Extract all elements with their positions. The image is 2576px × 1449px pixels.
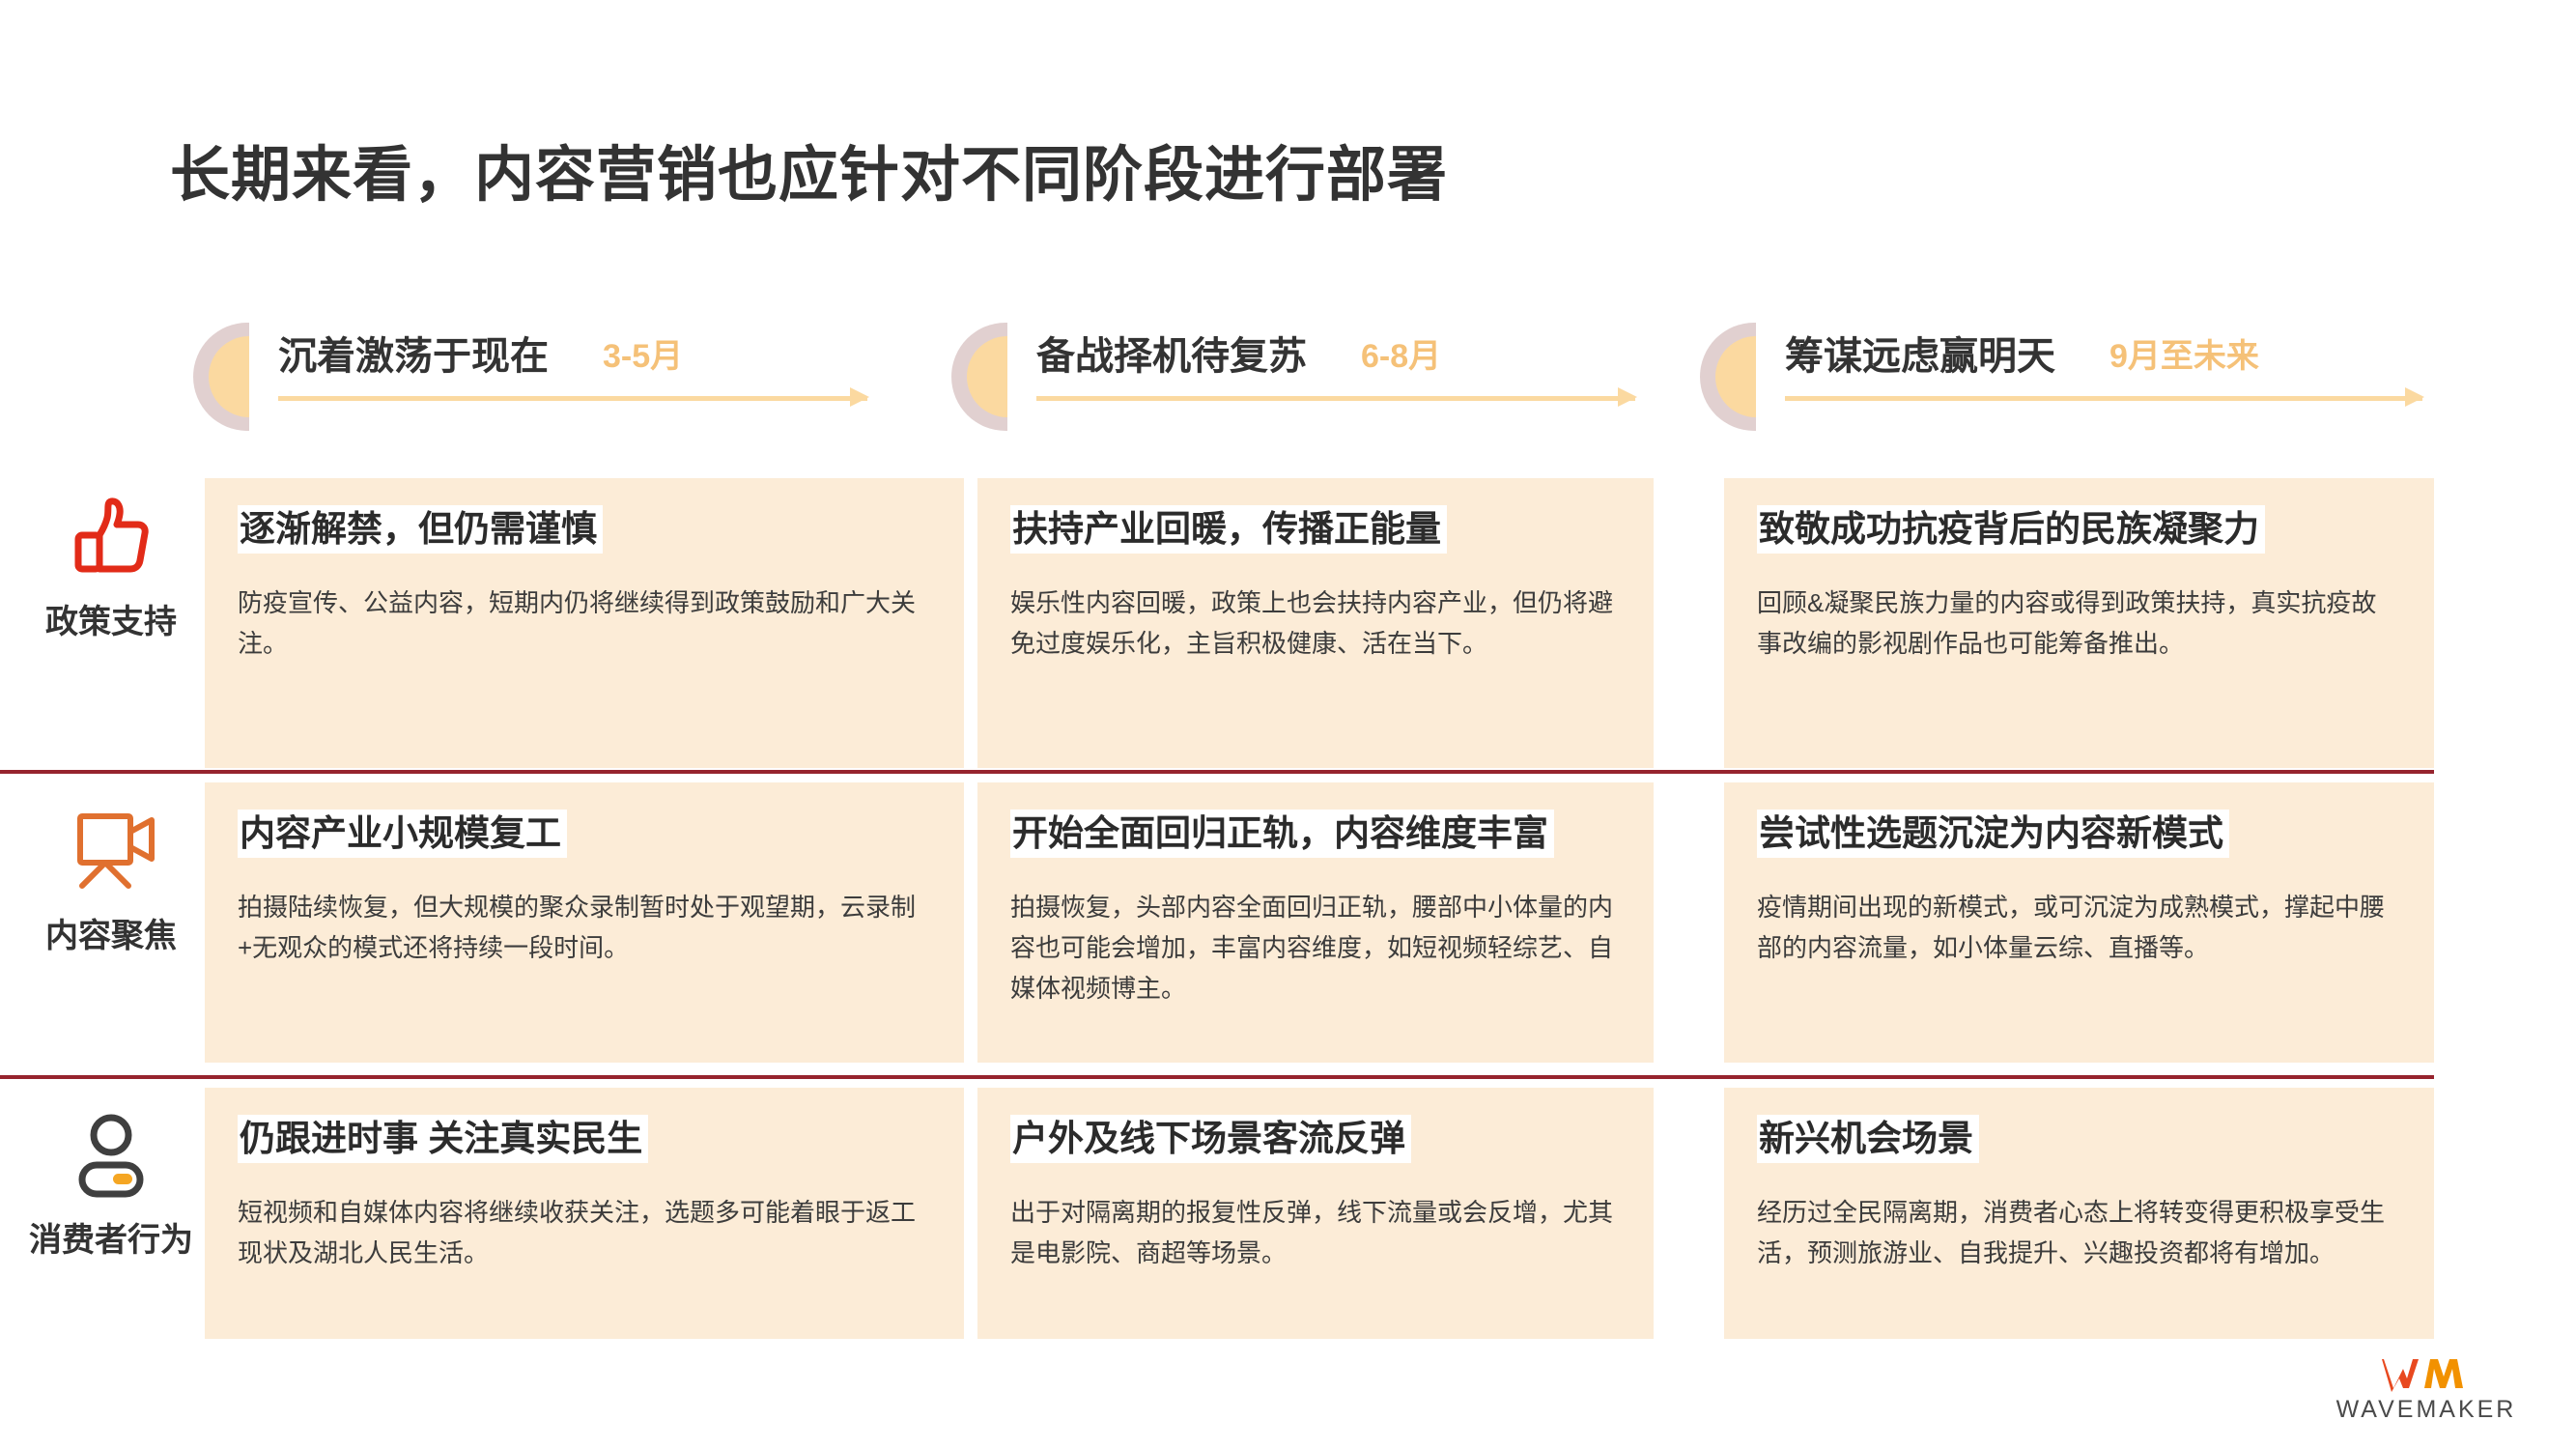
slide-root: 长期来看，内容营销也应针对不同阶段进行部署 沉着激荡于现在3-5月 备战择机待复… <box>0 0 2576 1449</box>
column-header-1-period: 3-5月 <box>603 329 683 377</box>
cell-consumer-phase1: 仍跟进时事 关注真实民生 短视频和自媒体内容将继续收获关注，选题多可能着眼于返工… <box>205 1088 964 1339</box>
column-header-2-name: 备战择机待复苏 <box>1036 325 1307 381</box>
column-header-3-period: 9月至未来 <box>2109 329 2259 377</box>
row-divider-1 <box>0 770 2434 774</box>
row-label-policy: 政策支持 <box>10 493 212 642</box>
column-header-3-name: 筹谋远虑赢明天 <box>1785 325 2055 381</box>
cell-body: 短视频和自媒体内容将继续收获关注，选题多可能着眼于返工现状及湖北人民生活。 <box>238 1192 931 1273</box>
thumbs-up-icon <box>10 493 212 589</box>
column-header-1-text: 沉着激荡于现在3-5月 <box>278 325 683 381</box>
cell-title: 扶持产业回暖，传播正能量 <box>1010 505 1447 554</box>
half-circle-icon <box>1700 323 1756 431</box>
person-icon <box>10 1111 212 1207</box>
column-header-3: 筹谋远虑赢明天9月至未来 <box>1700 319 2434 440</box>
cell-body: 防疫宣传、公益内容，短期内仍将继续得到政策鼓励和广大关注。 <box>238 582 931 664</box>
half-circle-icon <box>193 323 249 431</box>
half-circle-icon <box>951 323 1007 431</box>
cell-title: 尝试性选题沉淀为内容新模式 <box>1757 810 2229 858</box>
cell-title: 开始全面回归正轨，内容维度丰富 <box>1010 810 1554 858</box>
cell-body: 出于对隔离期的报复性反弹，线下流量或会反增，尤其是电影院、商超等场景。 <box>1010 1192 1621 1273</box>
wavemaker-wordmark: WAVEMAKER <box>2315 1396 2537 1424</box>
cell-title: 致敬成功抗疫背后的民族凝聚力 <box>1757 505 2265 554</box>
cell-content-phase1: 内容产业小规模复工 拍摄陆续恢复，但大规模的聚众录制暂时处于观望期，云录制+无观… <box>205 782 964 1063</box>
cell-body: 拍摄陆续恢复，但大规模的聚众录制暂时处于观望期，云录制+无观众的模式还将持续一段… <box>238 887 931 968</box>
cell-body: 娱乐性内容回暖，政策上也会扶持内容产业，但仍将避免过度娱乐化，主旨积极健康、活在… <box>1010 582 1621 664</box>
cell-title: 内容产业小规模复工 <box>238 810 567 858</box>
column-headers: 沉着激荡于现在3-5月 备战择机待复苏6-8月 筹谋远虑赢明天9月至未来 <box>0 319 2576 444</box>
cell-body: 疫情期间出现的新模式，或可沉淀为成熟模式，撑起中腰部的内容流量，如小体量云综、直… <box>1757 887 2401 968</box>
row-divider-2 <box>0 1075 2434 1079</box>
video-camera-icon <box>10 807 212 903</box>
cell-title: 户外及线下场景客流反弹 <box>1010 1115 1411 1163</box>
cell-policy-phase3: 致敬成功抗疫背后的民族凝聚力 回顾&凝聚民族力量的内容或得到政策扶持，真实抗疫故… <box>1724 478 2434 768</box>
column-header-2-text: 备战择机待复苏6-8月 <box>1036 325 1441 381</box>
row-label-policy-text: 政策支持 <box>10 595 212 642</box>
column-header-2: 备战择机待复苏6-8月 <box>951 319 1618 440</box>
column-header-1-name: 沉着激荡于现在 <box>278 325 549 381</box>
cell-title: 仍跟进时事 关注真实民生 <box>238 1115 648 1163</box>
cell-body: 回顾&凝聚民族力量的内容或得到政策扶持，真实抗疫故事改编的影视剧作品也可能筹备推… <box>1757 582 2401 664</box>
row-label-content-text: 内容聚焦 <box>10 909 212 956</box>
row-label-consumer: 消费者行为 <box>10 1111 212 1261</box>
wavemaker-mark-icon <box>2315 1355 2537 1394</box>
cell-content-phase3: 尝试性选题沉淀为内容新模式 疫情期间出现的新模式，或可沉淀为成熟模式，撑起中腰部… <box>1724 782 2434 1063</box>
column-header-3-text: 筹谋远虑赢明天9月至未来 <box>1785 325 2259 381</box>
row-label-consumer-text: 消费者行为 <box>10 1213 212 1261</box>
column-header-3-arrow <box>1785 394 2422 402</box>
page-title: 长期来看，内容营销也应针对不同阶段进行部署 <box>170 126 1448 213</box>
column-header-2-period: 6-8月 <box>1361 329 1441 377</box>
cell-title: 逐渐解禁，但仍需谨慎 <box>238 505 603 554</box>
cell-body: 经历过全民隔离期，消费者心态上将转变得更积极享受生活，预测旅游业、自我提升、兴趣… <box>1757 1192 2401 1273</box>
wavemaker-logo: WAVEMAKER <box>2315 1355 2537 1424</box>
column-header-2-arrow <box>1036 394 1635 402</box>
cell-title: 新兴机会场景 <box>1757 1115 1979 1163</box>
cell-body: 拍摄恢复，头部内容全面回归正轨，腰部中小体量的内容也可能会增加，丰富内容维度，如… <box>1010 887 1621 1009</box>
cell-policy-phase2: 扶持产业回暖，传播正能量 娱乐性内容回暖，政策上也会扶持内容产业，但仍将避免过度… <box>977 478 1654 768</box>
cell-content-phase2: 开始全面回归正轨，内容维度丰富 拍摄恢复，头部内容全面回归正轨，腰部中小体量的内… <box>977 782 1654 1063</box>
column-header-1-arrow <box>278 394 867 402</box>
cell-policy-phase1: 逐渐解禁，但仍需谨慎 防疫宣传、公益内容，短期内仍将继续得到政策鼓励和广大关注。 <box>205 478 964 768</box>
cell-consumer-phase2: 户外及线下场景客流反弹 出于对隔离期的报复性反弹，线下流量或会反增，尤其是电影院… <box>977 1088 1654 1339</box>
cell-consumer-phase3: 新兴机会场景 经历过全民隔离期，消费者心态上将转变得更积极享受生活，预测旅游业、… <box>1724 1088 2434 1339</box>
column-header-1: 沉着激荡于现在3-5月 <box>193 319 869 440</box>
row-label-content: 内容聚焦 <box>10 807 212 956</box>
